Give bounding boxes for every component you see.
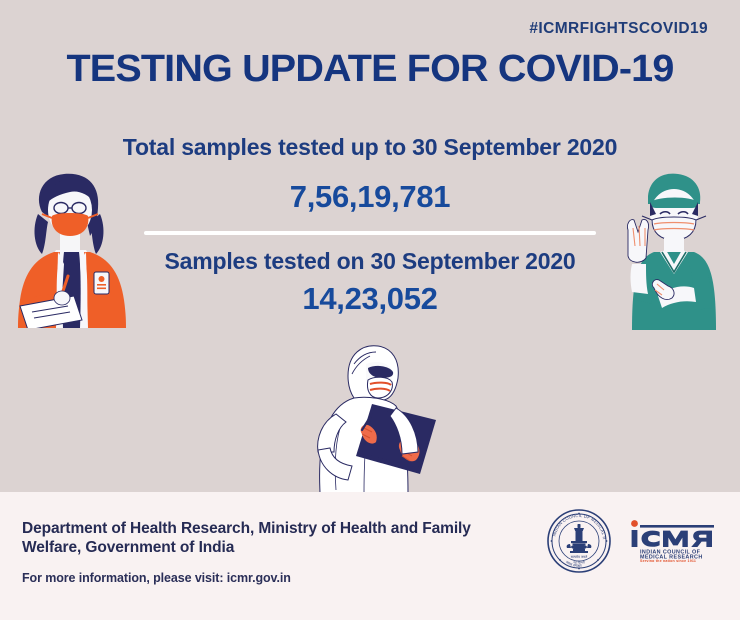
total-samples-label: Total samples tested up to 30 September … (0, 134, 740, 161)
statistics-block: Total samples tested up to 30 September … (0, 134, 740, 317)
daily-samples-value: 14,23,052 (0, 281, 740, 317)
daily-samples-label: Samples tested on 30 September 2020 (0, 248, 740, 275)
department-name: Department of Health Research, Ministry … (22, 519, 492, 557)
footer-text-block: Department of Health Research, Ministry … (22, 519, 492, 585)
icmr-seal-logo: INDIAN COUNCIL OF MEDICAL RESEARCH भारत … (546, 508, 612, 574)
svg-text:नई दिल्ली: नई दिल्ली (573, 561, 584, 565)
total-samples-value: 7,56,19,781 (0, 179, 740, 215)
campaign-hashtag: #ICMRFIGHTSCOVID19 (529, 20, 708, 38)
ppe-worker-illustration (296, 342, 460, 494)
icmr-tagline-text: Serving the nation since 1911 (640, 559, 696, 562)
section-divider (144, 231, 596, 235)
covid-testing-update-poster: #ICMRFIGHTSCOVID19 TESTING UPDATE FOR CO… (0, 0, 740, 620)
icmr-wordmark-logo: INDIAN COUNCIL OF MEDICAL RESEARCH Servi… (628, 516, 716, 567)
more-information-line[interactable]: For more information, please visit: icmr… (22, 571, 492, 585)
page-title: TESTING UPDATE FOR COVID-19 (0, 47, 740, 91)
footer-logos: INDIAN COUNCIL OF MEDICAL RESEARCH भारत … (546, 508, 716, 574)
svg-text:सत्यमेव जयते: सत्यमेव जयते (571, 554, 588, 559)
footer: Department of Health Research, Ministry … (0, 492, 740, 620)
